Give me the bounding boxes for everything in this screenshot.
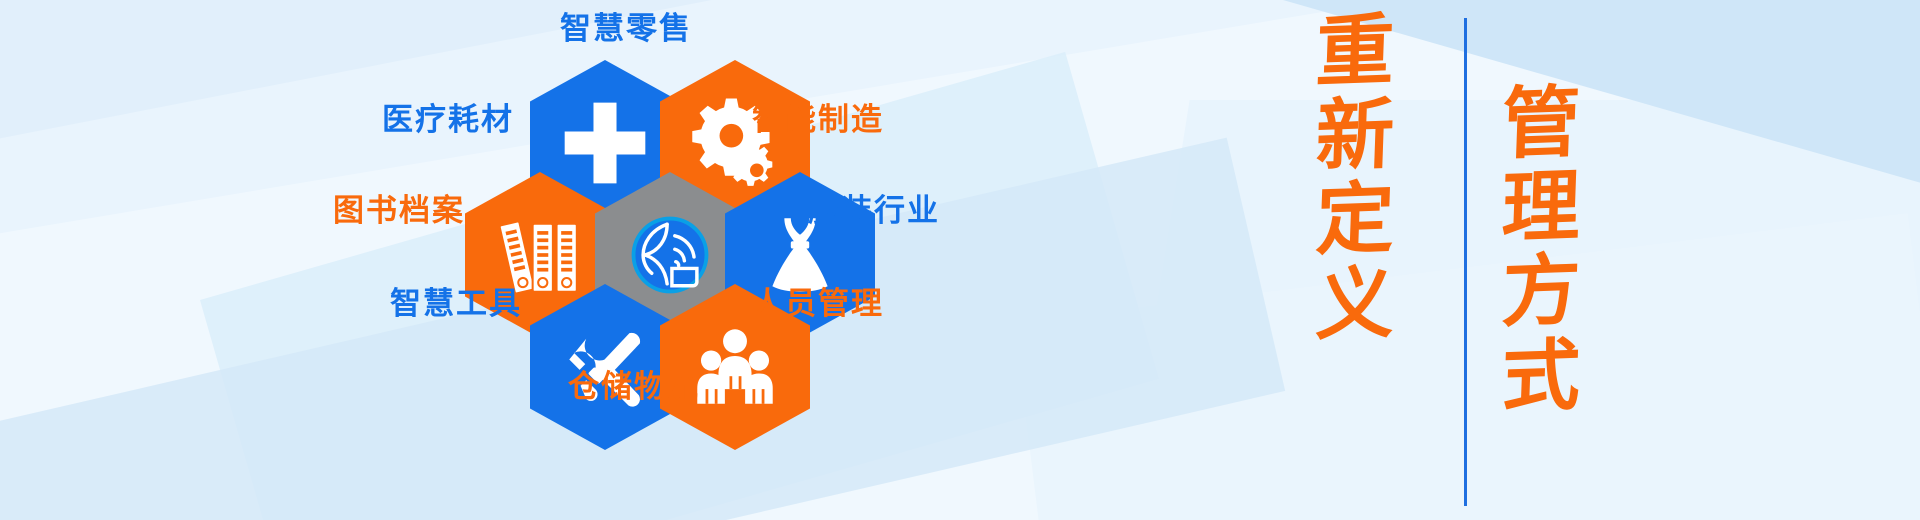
calligraphy-column-right: 管 理 方 式 <box>1486 0 1596 520</box>
calligraphy-char-right-3: 式 <box>1500 333 1581 420</box>
label-personnel: 人员管理 <box>752 289 884 320</box>
label-apparel: 服装行业 <box>808 196 940 227</box>
calligraphy-column-left: 重 新 定 义 <box>1300 0 1410 520</box>
calligraphy-char-right-0: 管 <box>1500 81 1581 168</box>
background-decoration <box>0 0 1920 520</box>
calligraphy-char-left-1: 新 <box>1314 93 1395 180</box>
banner-root: 智慧零售 医疗耗材 智能制造 图书档案 服装行业 智慧工具 人员管理 仓储物流 … <box>0 0 1920 520</box>
label-retail: 智慧零售 <box>560 14 692 45</box>
calligraphy-char-right-2: 方 <box>1500 249 1581 336</box>
label-archive: 图书档案 <box>333 196 465 227</box>
brand-logo-icon <box>622 207 718 303</box>
label-medical: 医疗耗材 <box>382 105 514 136</box>
label-manufacture: 智能制造 <box>752 105 884 136</box>
label-tools: 智慧工具 <box>390 289 522 320</box>
label-logistics: 仓储物流 <box>568 372 700 403</box>
calligraphy-char-left-0: 重 <box>1314 9 1395 96</box>
people-group-icon <box>689 321 781 413</box>
calligraphy-char-right-1: 理 <box>1500 165 1581 252</box>
calligraphy-char-left-3: 义 <box>1314 261 1395 348</box>
calligraphy-divider <box>1464 18 1467 506</box>
medical-cross-icon <box>557 95 653 191</box>
calligraphy-char-left-2: 定 <box>1314 177 1395 264</box>
calligraphy-block: 重 新 定 义 管 理 方 式 <box>1300 0 1630 520</box>
